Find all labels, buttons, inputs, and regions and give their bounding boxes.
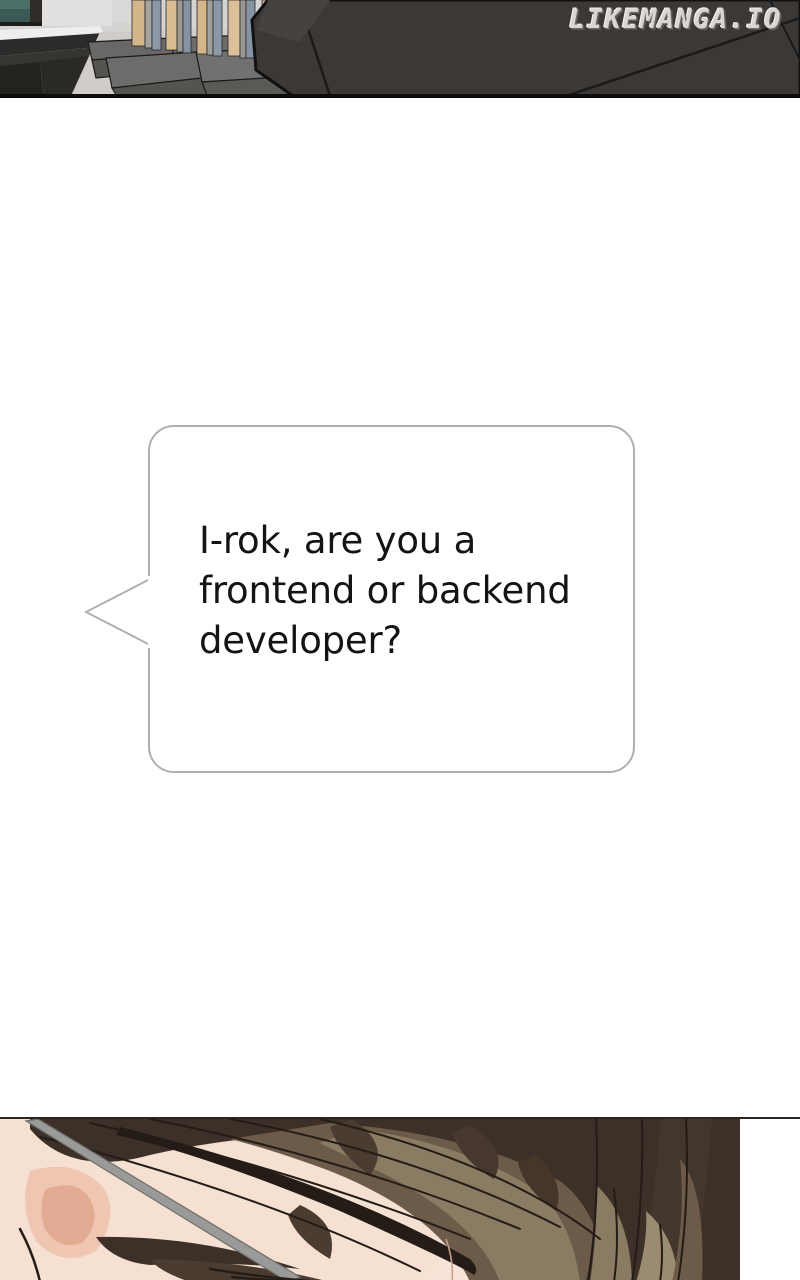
character-face-artwork bbox=[0, 1119, 800, 1280]
panel-top-lobby-corridor: LIKEMANGA.IO bbox=[0, 0, 800, 98]
panel-bottom-face-closeup bbox=[0, 1117, 800, 1280]
speech-bubble-text: I-rok, are you a frontend or backend dev… bbox=[199, 516, 619, 666]
site-watermark: LIKEMANGA.IO bbox=[569, 4, 782, 35]
webtoon-page: LIKEMANGA.IO I-rok, are you a frontend o… bbox=[0, 0, 800, 1280]
